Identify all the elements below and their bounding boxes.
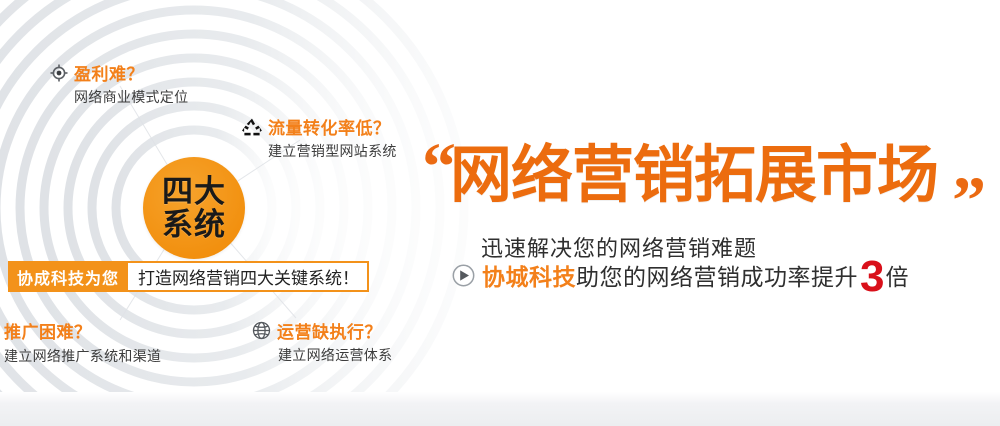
feature-profit-title: 盈利难？ [74,60,144,85]
bottom-gradient-band [0,392,1000,426]
feature-operations-head: 运营缺执行？ [252,318,392,343]
promo-subtitle-line-2: 协城科技 助您的网络营销成功率提升 3 倍 [452,258,908,292]
promo-headline-block: “ 网络营销拓展市场 ” [420,138,1000,238]
tagline-brand-label: 协成科技为您 [8,261,128,292]
globe-icon [252,321,271,340]
feature-promotion: 推广困难？ 建立网络推广系统和渠道 [4,318,161,366]
feature-promotion-title: 推广困难？ [4,318,92,343]
promo-brand-name: 协城科技 [482,258,576,292]
feature-operations-subtitle: 建立网络运营体系 [278,345,392,365]
promo-multiplier-unit: 倍 [885,258,908,292]
marketing-banner: 四大 系统 协成科技为您 打造网络营销四大关键系统！ 盈利难？ 网络商业模式定位 [0,0,1000,426]
recycle-icon [242,118,262,136]
quote-close-mark: ” [952,166,986,234]
circle-line-2: 系统 [162,208,226,241]
feature-conversion-subtitle: 建立营销型网站系统 [268,141,397,161]
feature-conversion: 流量转化率低？ 建立营销型网站系统 [242,114,397,161]
play-circle-icon [452,264,475,287]
feature-promotion-subtitle: 建立网络推广系统和渠道 [4,346,161,366]
target-icon [50,64,68,82]
tagline-message-label: 打造网络营销四大关键系统！ [128,261,369,292]
promo-headline: 网络营销拓展市场 [450,140,938,210]
feature-profit-head: 盈利难？ [50,60,188,85]
feature-conversion-title: 流量转化率低？ [268,114,391,139]
feature-operations: 运营缺执行？ 建立网络运营体系 [252,318,392,365]
feature-profit: 盈利难？ 网络商业模式定位 [50,60,188,107]
feature-promotion-head: 推广困难？ [4,318,161,343]
four-systems-circle-text: 四大 系统 [143,157,245,259]
circle-line-1: 四大 [162,175,226,208]
promo-multiplier-number: 3 [860,262,884,292]
feature-operations-title: 运营缺执行？ [277,318,382,343]
tagline-bar: 协成科技为您 打造网络营销四大关键系统！ [8,261,369,292]
feature-conversion-head: 流量转化率低？ [242,114,397,139]
feature-profit-subtitle: 网络商业模式定位 [74,87,188,107]
four-systems-circle: 四大 系统 [143,157,245,259]
promo-subtitle-text: 助您的网络营销成功率提升 [576,258,858,292]
